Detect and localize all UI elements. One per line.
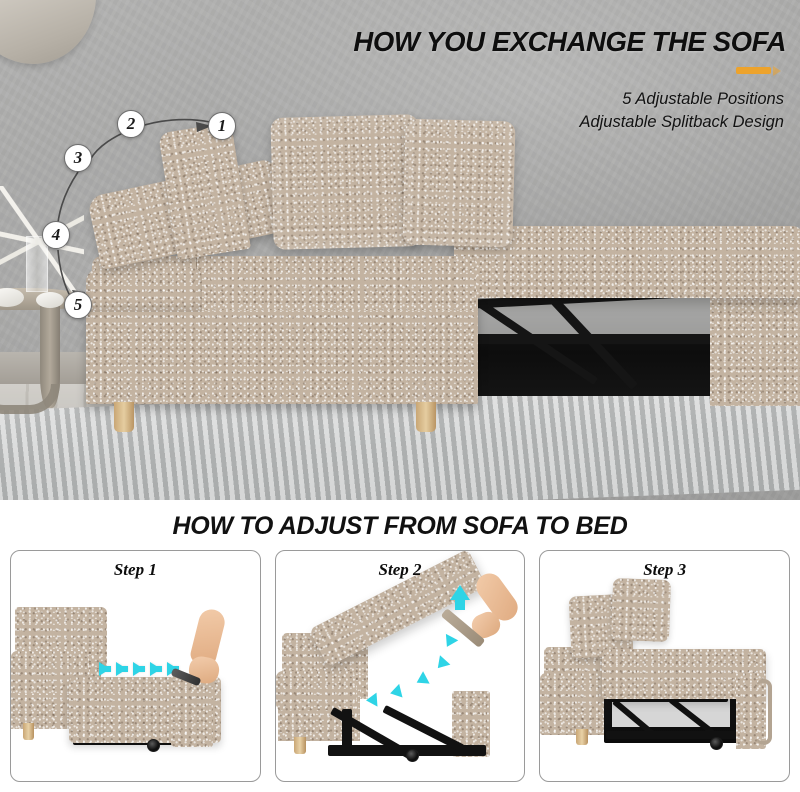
position-marker-4[interactable]: 4	[42, 221, 70, 249]
position-marker-2[interactable]: 2	[117, 110, 145, 138]
position-marker-1[interactable]: 1	[208, 112, 236, 140]
hero-title: HOW YOU EXCHANGE THE SOFA	[353, 26, 786, 58]
wooden-leg	[416, 402, 436, 432]
caster-wheel	[710, 737, 723, 750]
hero-subtitle-line-1: 5 Adjustable Positions	[579, 88, 784, 111]
arrow-right-icon	[99, 662, 110, 676]
wooden-leg	[576, 729, 588, 745]
side-table-arc	[0, 384, 60, 414]
step-card-3[interactable]: Step 3	[539, 550, 790, 782]
position-marker-5[interactable]: 5	[64, 291, 92, 319]
arrow-right-icon	[133, 662, 144, 676]
orange-accent-arrow	[736, 64, 782, 77]
stone-decor	[36, 292, 64, 308]
arrow-right-icon	[116, 662, 127, 676]
step-2-label: Step 2	[276, 560, 525, 580]
arrow-diagonal-icon	[413, 671, 429, 689]
position-marker-1-label: 1	[218, 116, 227, 136]
metal-frame	[328, 701, 488, 757]
step-1-illustration	[11, 551, 260, 781]
step-3-label: Step 3	[540, 560, 789, 580]
accent-arrow-tip-icon	[773, 66, 781, 76]
position-marker-3-label: 3	[74, 148, 83, 168]
position-marker-3[interactable]: 3	[64, 144, 92, 172]
wooden-leg	[23, 723, 34, 740]
throw-pillow	[611, 578, 671, 642]
hero-subtitle-block: 5 Adjustable Positions Adjustable Splitb…	[579, 88, 784, 134]
caster-wheel	[147, 739, 160, 752]
steps-section: HOW TO ADJUST FROM SOFA TO BED Step 1	[0, 500, 800, 792]
arrow-diagonal-icon	[432, 655, 450, 673]
steps-section-title: HOW TO ADJUST FROM SOFA TO BED	[0, 512, 800, 541]
step-1-label: Step 1	[11, 560, 260, 580]
wooden-leg	[114, 402, 134, 432]
position-marker-2-label: 2	[127, 114, 136, 134]
sofa-bed-hero	[86, 108, 800, 418]
wooden-leg	[294, 737, 306, 754]
frame-bar	[342, 709, 352, 751]
hero-subtitle-line-2: Adjustable Splitback Design	[579, 111, 784, 134]
fabric-loop-handle	[756, 679, 772, 745]
position-marker-4-label: 4	[52, 225, 61, 245]
steps-row: Step 1	[10, 550, 790, 782]
hand-lifting	[472, 577, 518, 639]
arrow-right-icon	[150, 662, 161, 676]
step-card-2[interactable]: Step 2	[275, 550, 526, 782]
hand-pulling	[187, 613, 229, 679]
arrow-diagonal-icon	[365, 693, 377, 708]
step-2-illustration	[276, 551, 525, 781]
arrow-up-icon	[450, 585, 470, 600]
sofa-arm	[86, 268, 202, 312]
throw-pillow	[402, 119, 515, 248]
position-marker-5-label: 5	[74, 295, 83, 315]
caster-wheel	[406, 749, 419, 762]
arrow-diagonal-icon	[440, 634, 458, 650]
step-3-illustration	[540, 551, 789, 781]
throw-pillow	[270, 114, 421, 250]
pull-out-bed-front-panel	[171, 675, 213, 747]
arrow-diagonal-icon	[388, 684, 402, 700]
accent-bar	[736, 67, 771, 74]
step-card-1[interactable]: Step 1	[10, 550, 261, 782]
hero-section: 1 2 3 4 5 HOW YOU EXCHANGE THE SOFA 5 Ad…	[0, 0, 800, 500]
